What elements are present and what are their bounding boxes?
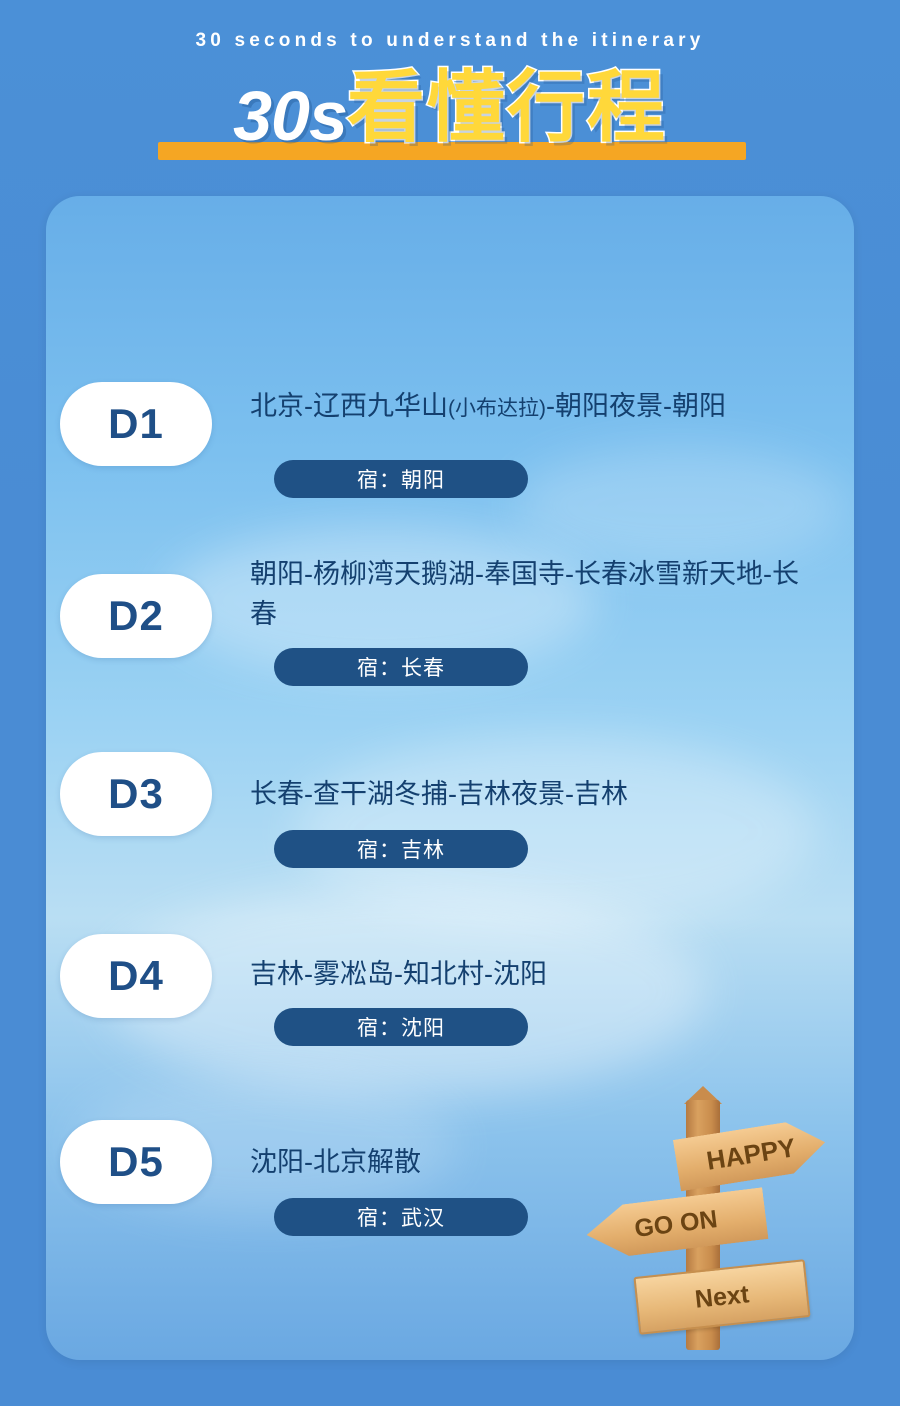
- signpost-plank-next-label: Next: [694, 1280, 751, 1315]
- day-badge-d4: D4: [60, 934, 212, 1018]
- route-text-d4: 吉林-雾凇岛-知北村-沈阳: [250, 954, 820, 994]
- signpost-plank-happy-label: HAPPY: [704, 1132, 797, 1177]
- header-title: 30s看懂行程: [233, 68, 667, 151]
- day-badge-label: D4: [108, 952, 164, 1000]
- route-tail: -朝阳夜景-朝阳: [546, 391, 726, 421]
- day-badge-d3: D3: [60, 752, 212, 836]
- stay-badge-d3: 宿：吉林: [274, 830, 528, 868]
- poster-page: 30 seconds to understand the itinerary 3…: [0, 0, 900, 1406]
- day-badge-label: D5: [108, 1138, 164, 1186]
- route-text-d3: 长春-查干湖冬捕-吉林夜景-吉林: [250, 774, 820, 814]
- signpost-illustration: HAPPY GO ON Next: [566, 1086, 826, 1351]
- route-main: 北京-辽西九华山: [250, 391, 448, 421]
- route-main: 吉林-雾凇岛-知北村-沈阳: [250, 959, 547, 989]
- day-badge-label: D1: [108, 400, 164, 448]
- header-subtitle-en: 30 seconds to understand the itinerary: [0, 30, 900, 52]
- day-badge-d5: D5: [60, 1120, 212, 1204]
- route-paren: (小布达拉): [448, 397, 546, 420]
- stay-badge-d2: 宿：长春: [274, 648, 528, 686]
- day-badge-d2: D2: [60, 574, 212, 658]
- itinerary-card: D1 北京-辽西九华山(小布达拉)-朝阳夜景-朝阳 宿：朝阳 D2 朝阳-杨柳湾…: [46, 196, 854, 1360]
- route-main: 长春-查干湖冬捕-吉林夜景-吉林: [250, 779, 628, 809]
- header-title-wrap: 30s看懂行程: [0, 68, 900, 168]
- route-main: 朝阳-杨柳湾天鹅湖-奉国寺-长春冰雪新天地-长春: [250, 559, 799, 629]
- stay-badge-d5: 宿：武汉: [274, 1198, 528, 1236]
- day-badge-label: D3: [108, 770, 164, 818]
- day-badge-label: D2: [108, 592, 164, 640]
- poster-header: 30 seconds to understand the itinerary 3…: [0, 0, 900, 190]
- title-chinese: 看懂行程: [347, 63, 667, 151]
- route-text-d2: 朝阳-杨柳湾天鹅湖-奉国寺-长春冰雪新天地-长春: [250, 554, 820, 634]
- stay-badge-d1: 宿：朝阳: [274, 460, 528, 498]
- signpost-plank-next: Next: [633, 1259, 810, 1335]
- stay-badge-d4: 宿：沈阳: [274, 1008, 528, 1046]
- title-number: 30s: [233, 77, 347, 155]
- route-text-d1: 北京-辽西九华山(小布达拉)-朝阳夜景-朝阳: [250, 386, 820, 429]
- signpost-plank-goon: GO ON: [584, 1187, 769, 1261]
- route-main: 沈阳-北京解散: [250, 1147, 421, 1177]
- cloud-decoration: [516, 446, 846, 566]
- signpost-plank-goon-label: GO ON: [633, 1205, 719, 1244]
- day-badge-d1: D1: [60, 382, 212, 466]
